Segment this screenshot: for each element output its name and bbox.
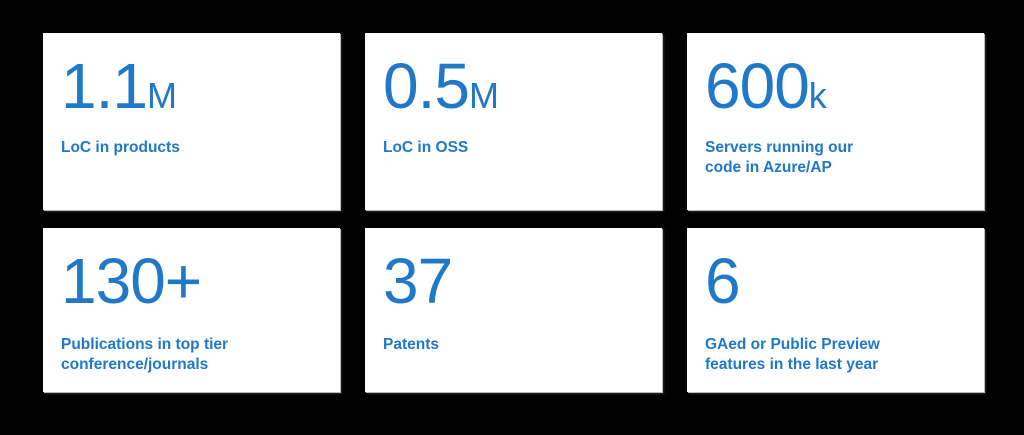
stat-label: LoC in OSS [383,138,468,158]
stat-tile-gaed-or-public-preview: 6 GAed or Public Preview features in the… [687,228,984,392]
stat-tile-loc-in-oss: 0.5M LoC in OSS [365,33,662,210]
stat-value-number: 37 [383,250,452,313]
stat-label: GAed or Public Preview features in the l… [705,335,880,375]
stat-label: Patents [383,335,439,355]
stat-value-suffix: k [809,78,827,113]
stat-tile-publications: 130+ Publications in top tier conference… [43,228,340,392]
stat-value-number: 0.5 [383,55,469,118]
stats-board: 1.1M LoC in products 0.5M LoC in OSS 600… [0,0,1024,435]
stat-value: 600k [705,55,827,118]
stat-value-suffix: M [469,78,499,113]
stat-value: 1.1M [61,55,177,118]
stat-value-number: 6 [705,250,740,313]
stat-value: 37 [383,250,452,313]
stat-value: 6 [705,250,740,313]
stat-label: Servers running our code in Azure/AP [705,138,853,178]
stat-label: Publications in top tier conference/jour… [61,335,228,375]
stat-value: 0.5M [383,55,499,118]
stat-tile-patents: 37 Patents [365,228,662,392]
stat-value-number: 600 [705,55,809,118]
stat-value-number: 1.1 [61,55,147,118]
stat-label: LoC in products [61,138,180,158]
stats-grid: 1.1M LoC in products 0.5M LoC in OSS 600… [43,33,983,392]
stat-tile-loc-in-products: 1.1M LoC in products [43,33,340,210]
stat-value: 130+ [61,250,201,313]
stat-value-suffix: M [147,78,177,113]
stat-tile-servers-running-our-code: 600k Servers running our code in Azure/A… [687,33,984,210]
stat-value-number: 130+ [61,250,201,313]
